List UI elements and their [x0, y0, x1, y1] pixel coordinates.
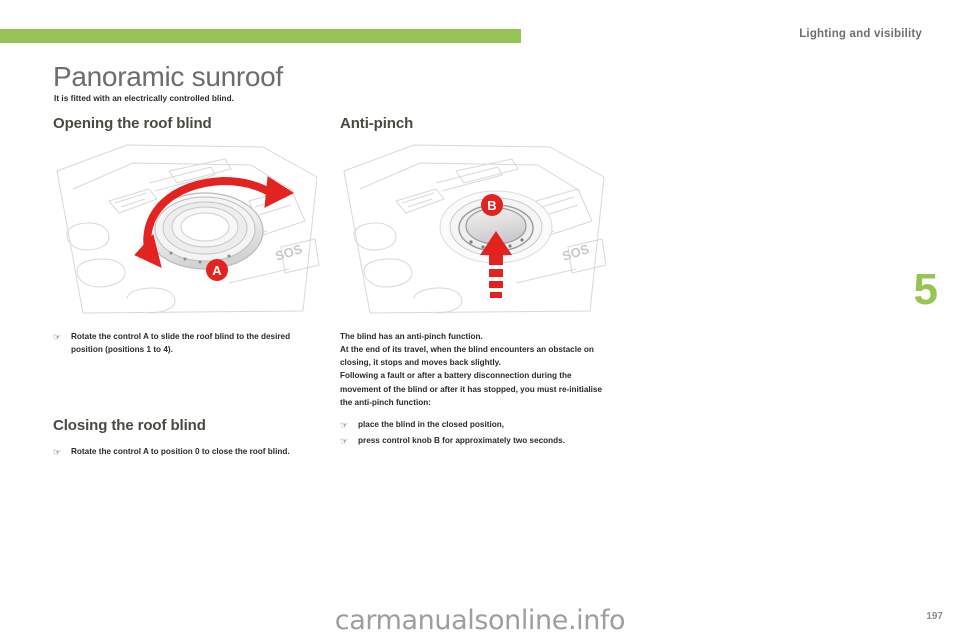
- header-accent-bar: [0, 29, 521, 43]
- page-title: Panoramic sunroof: [53, 62, 283, 91]
- anti-pinch-bullet-1-row: ☞ place the blind in the closed position…: [340, 418, 608, 432]
- svg-text:B: B: [487, 198, 496, 213]
- left-column: Opening the roof blind: [53, 116, 321, 460]
- chapter-tab: [900, 160, 960, 480]
- heading-opening-roof-blind: Opening the roof blind: [53, 116, 321, 133]
- svg-text:A: A: [212, 263, 222, 278]
- figure-roof-blind-control-a: SOS: [53, 143, 321, 316]
- anti-pinch-bullet-1-text: place the blind in the closed position,: [358, 418, 504, 431]
- site-watermark: carmanualsonline.info: [0, 605, 960, 636]
- pointer-bullet-icon: ☞: [53, 445, 65, 459]
- header-chapter-title: Lighting and visibility: [799, 28, 922, 40]
- anti-pinch-paragraph-3: Following a fault or after a battery dis…: [340, 369, 608, 409]
- anti-pinch-bullet-2-text: press control knob B for approximately t…: [358, 434, 565, 447]
- anti-pinch-bullet-2-row: ☞ press control knob B for approximately…: [340, 434, 608, 448]
- pointer-bullet-icon: ☞: [53, 330, 65, 344]
- chapter-number: 5: [914, 268, 938, 312]
- anti-pinch-paragraph-2: At the end of its travel, when the blind…: [340, 343, 608, 370]
- instruction-close-text: Rotate the control A to position 0 to cl…: [71, 445, 290, 458]
- page-subtitle: It is fitted with an electrically contro…: [54, 94, 234, 103]
- figure-label-b-marker: B: [481, 194, 503, 216]
- instruction-close-row: ☞ Rotate the control A to position 0 to …: [53, 445, 321, 459]
- heading-anti-pinch: Anti-pinch: [340, 116, 608, 133]
- figure-label-a-marker: A: [206, 259, 228, 281]
- page-number: 197: [926, 611, 943, 622]
- anti-pinch-paragraph-1: The blind has an anti-pinch function.: [340, 330, 608, 343]
- right-column: Anti-pinch: [340, 116, 608, 449]
- instruction-open-text: Rotate the control A to slide the roof b…: [71, 330, 321, 357]
- instruction-open-row: ☞ Rotate the control A to slide the roof…: [53, 330, 321, 357]
- figure-control-knob-b: SOS: [340, 143, 608, 316]
- heading-closing-roof-blind: Closing the roof blind: [53, 418, 321, 435]
- pointer-bullet-icon: ☞: [340, 418, 352, 432]
- pointer-bullet-icon: ☞: [340, 434, 352, 448]
